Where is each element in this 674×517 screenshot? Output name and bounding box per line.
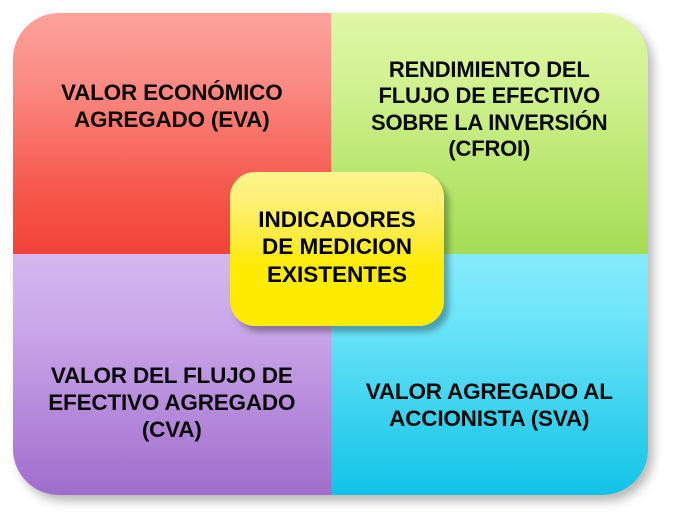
center-callout-label: INDICADORES DE MEDICION EXISTENTES (252, 206, 422, 288)
center-callout[interactable]: INDICADORES DE MEDICION EXISTENTES (230, 172, 444, 326)
quadrant-eva-label: VALOR ECONÓMICO AGREGADO (EVA) (47, 79, 297, 133)
quadrant-sva-label: VALOR AGREGADO AL ACCIONISTA (SVA) (352, 378, 627, 432)
quadrant-diagram: VALOR ECONÓMICO AGREGADO (EVA) RENDIMIEN… (0, 0, 674, 517)
quadrant-cfroi-label: RENDIMIENTO DEL FLUJO DE EFECTIVO SOBRE … (357, 57, 621, 163)
quadrant-cva-label: VALOR DEL FLUJO DE EFECTIVO AGREGADO (CV… (34, 362, 309, 443)
